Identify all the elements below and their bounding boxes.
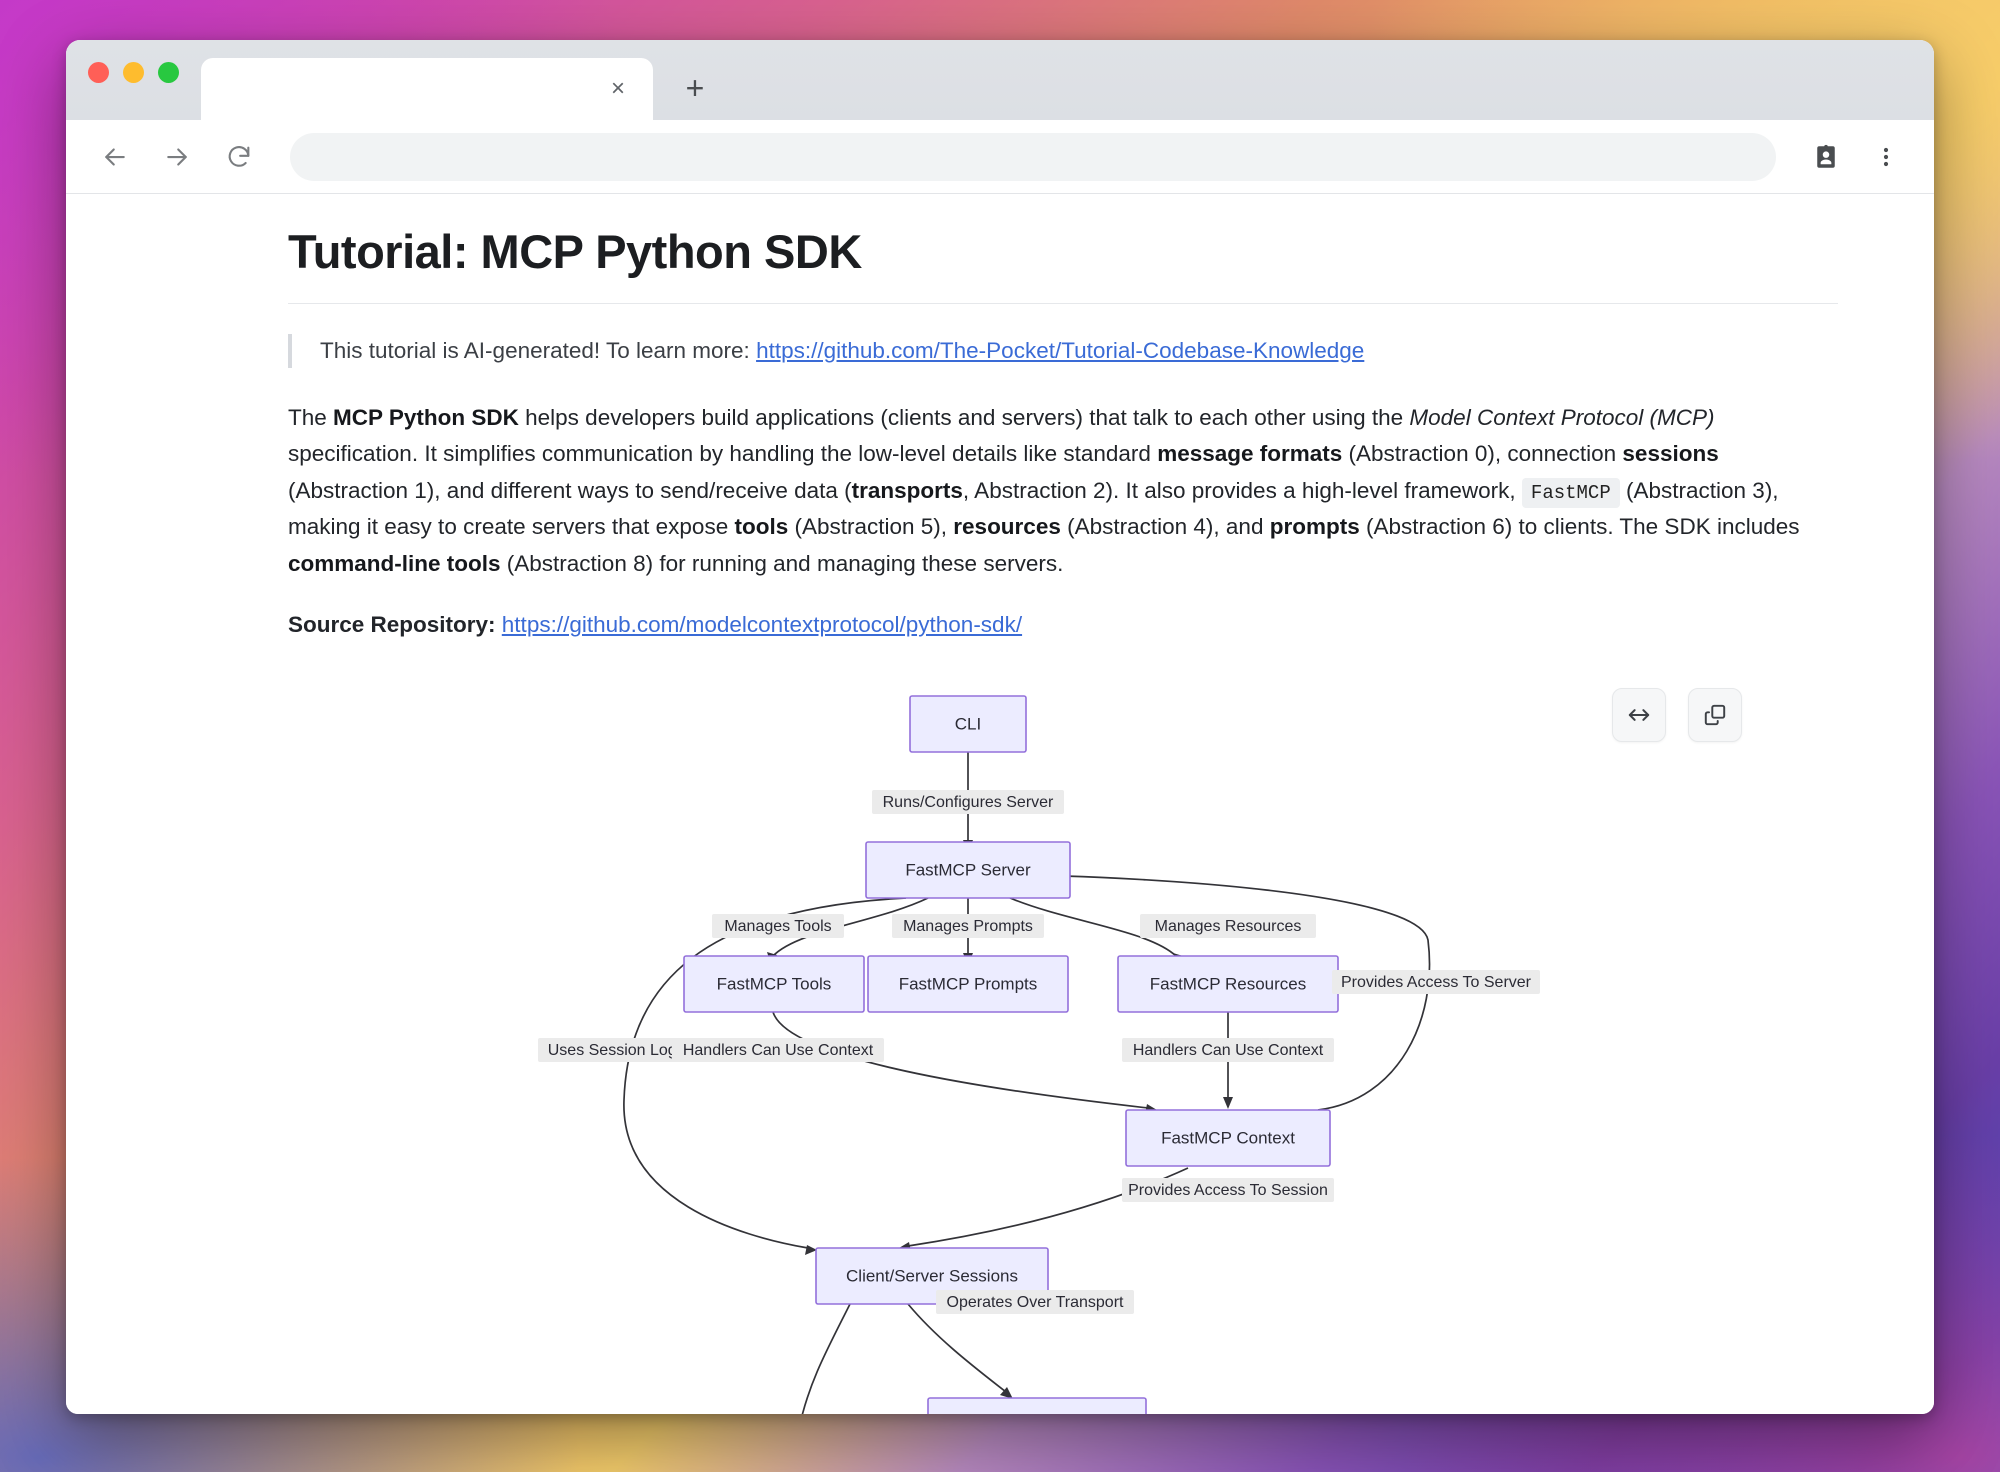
tab-strip: × + [66,40,1934,120]
node-fastmcp-resources-label: FastMCP Resources [1150,974,1307,993]
close-window-button[interactable] [88,62,109,83]
para-seg-2: helps developers build applications (cli… [519,405,1410,430]
para-seg-4: (Abstraction 0), connection [1342,441,1622,466]
node-fastmcp-tools-label: FastMCP Tools [717,974,832,993]
para-seg-5: (Abstraction 1), and different ways to s… [288,478,852,503]
mermaid-diagram: CLI FastMCP Server FastMCP Tools [288,680,1838,1414]
minimize-window-button[interactable] [123,62,144,83]
back-arrow-icon[interactable] [88,130,142,184]
edge-label-handlers-context-right-text: Handlers Can Use Context [1133,1042,1324,1059]
new-tab-icon[interactable]: + [671,64,719,112]
edge-label-handlers-context-left: Handlers Can Use Context [672,1038,884,1062]
browser-tab[interactable]: × [201,58,653,120]
para-bold-tools: tools [734,514,788,539]
inline-code-fastmcp: FastMCP [1522,478,1620,508]
edge-label-manages-tools-text: Manages Tools [724,918,831,935]
para-bold-sessions: sessions [1622,441,1718,466]
node-fastmcp-context-label: FastMCP Context [1161,1128,1295,1147]
tutorial-knowledge-link[interactable]: https://github.com/The-Pocket/Tutorial-C… [756,338,1364,363]
maximize-window-button[interactable] [158,62,179,83]
edge-label-uses-session-logic-text: Uses Session Logic [548,1042,689,1059]
edge-label-provides-access-server: Provides Access To Server [1332,970,1540,994]
node-transport[interactable] [928,1398,1146,1414]
copy-diagram-icon[interactable] [1688,688,1742,742]
profile-badge-icon[interactable] [1800,131,1852,183]
node-cli[interactable]: CLI [910,696,1026,752]
browser-window: × + [66,40,1934,1414]
para-bold-prompts: prompts [1270,514,1360,539]
page-title: Tutorial: MCP Python SDK [288,224,1838,304]
para-seg-1: The [288,405,333,430]
para-bold-transports: transports [852,478,963,503]
edge-sessions-bottomleft [800,1304,850,1414]
para-seg-9: (Abstraction 4), and [1061,514,1270,539]
edge-label-manages-resources-text: Manages Resources [1155,918,1302,935]
para-bold-resources: resources [953,514,1061,539]
intro-paragraph: The MCP Python SDK helps developers buil… [288,400,1838,582]
address-bar[interactable] [290,133,1776,181]
edge-label-operates-over-transport-text: Operates Over Transport [947,1294,1125,1311]
edge-label-provides-access-server-text: Provides Access To Server [1341,974,1532,991]
diagram-wrapper: CLI FastMCP Server FastMCP Tools [288,680,1838,1414]
edge-label-runs-configures-text: Runs/Configures Server [883,794,1054,811]
diagram-svg: CLI FastMCP Server FastMCP Tools [288,680,1838,1414]
para-seg-6: , Abstraction 2). It also provides a hig… [963,478,1522,503]
para-seg-11: (Abstraction 8) for running and managing… [501,551,1064,576]
expand-diagram-icon[interactable] [1612,688,1666,742]
node-fastmcp-server-label: FastMCP Server [905,860,1031,879]
source-repository-link[interactable]: https://github.com/modelcontextprotocol/… [502,612,1022,637]
edge-label-manages-tools: Manages Tools [712,914,844,938]
source-repository-line: Source Repository: https://github.com/mo… [288,612,1838,638]
window-traffic-lights [88,40,201,120]
para-bold-message-formats: message formats [1157,441,1342,466]
para-italic-mcp: Model Context Protocol (MCP) [1409,405,1714,430]
node-sessions-label: Client/Server Sessions [846,1266,1018,1285]
edge-sessions-transport [908,1304,1006,1392]
diagram-toolbar [1612,688,1742,742]
node-fastmcp-tools[interactable]: FastMCP Tools [684,956,864,1012]
note-text: This tutorial is AI-generated! To learn … [320,338,756,363]
para-bold-cli-tools: command-line tools [288,551,501,576]
more-menu-icon[interactable] [1860,131,1912,183]
edge-server-sessions [624,898,906,1248]
edge-label-manages-prompts: Manages Prompts [892,914,1044,938]
edge-label-provides-access-session: Provides Access To Session [1122,1178,1334,1202]
edge-label-manages-resources: Manages Resources [1140,914,1316,938]
node-cli-label: CLI [955,714,981,733]
node-fastmcp-prompts[interactable]: FastMCP Prompts [868,956,1068,1012]
node-fastmcp-resources[interactable]: FastMCP Resources [1118,956,1338,1012]
browser-toolbar [66,120,1934,194]
edge-label-operates-over-transport: Operates Over Transport [936,1290,1134,1314]
page-content: Tutorial: MCP Python SDK This tutorial i… [66,194,1934,1414]
node-fastmcp-prompts-label: FastMCP Prompts [899,974,1038,993]
node-fastmcp-server[interactable]: FastMCP Server [866,842,1070,898]
para-seg-8: (Abstraction 5), [788,514,953,539]
close-tab-icon[interactable]: × [601,72,635,106]
edge-label-handlers-context-right: Handlers Can Use Context [1122,1038,1334,1062]
node-fastmcp-context[interactable]: FastMCP Context [1126,1110,1330,1166]
edge-label-provides-access-session-text: Provides Access To Session [1128,1182,1328,1199]
para-seg-10: (Abstraction 6) to clients. The SDK incl… [1360,514,1800,539]
edge-label-runs-configures: Runs/Configures Server [872,790,1064,814]
source-repository-label: Source Repository: [288,612,502,637]
forward-arrow-icon[interactable] [150,130,204,184]
reload-icon[interactable] [212,130,266,184]
ai-generated-note: This tutorial is AI-generated! To learn … [288,334,1838,368]
edge-label-handlers-context-left-text: Handlers Can Use Context [683,1042,874,1059]
para-seg-3: specification. It simplifies communicati… [288,441,1157,466]
content-container: Tutorial: MCP Python SDK This tutorial i… [66,224,1934,1414]
para-bold-sdk: MCP Python SDK [333,405,519,430]
edge-label-manages-prompts-text: Manages Prompts [903,918,1033,935]
